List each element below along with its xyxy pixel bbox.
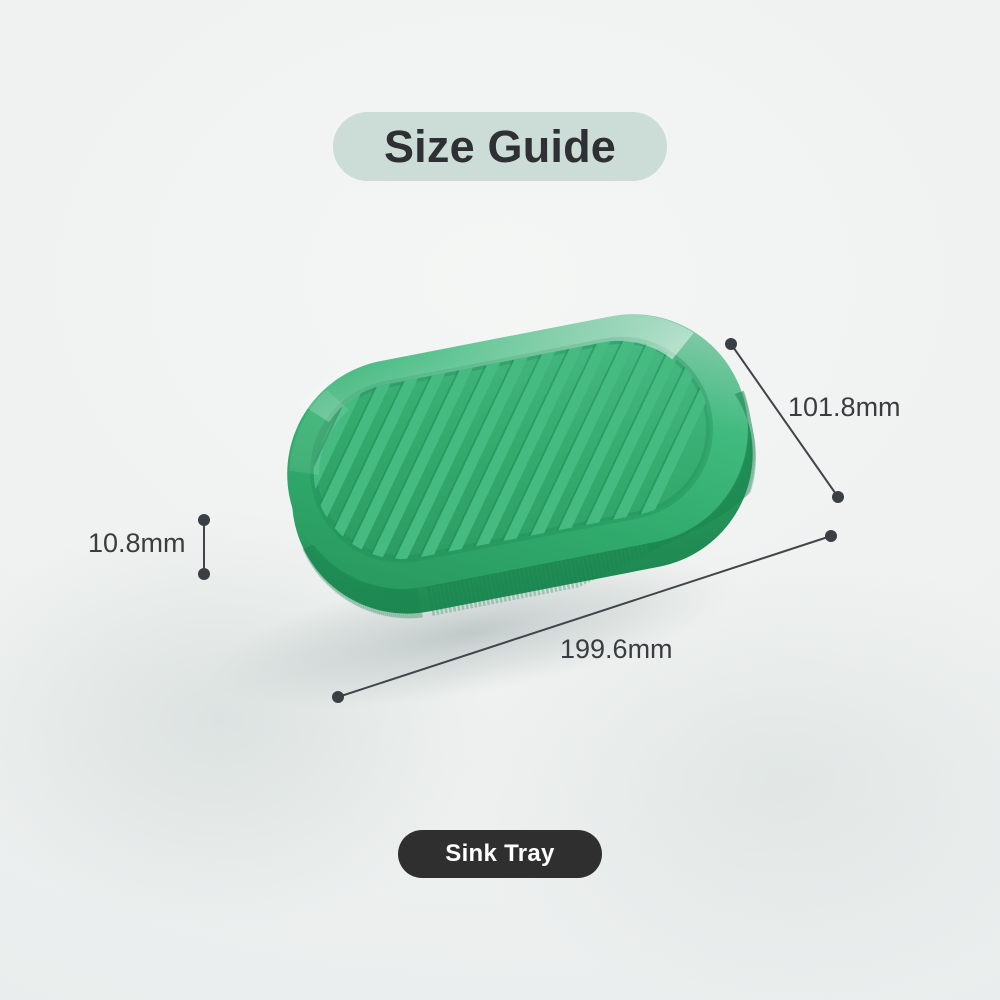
- dimension-line-height: [198, 514, 210, 580]
- product-name-text: Sink Tray: [445, 840, 554, 868]
- size-guide-title-badge: Size Guide: [333, 112, 667, 181]
- dimension-line-width: [332, 530, 837, 703]
- size-guide-title-text: Size Guide: [384, 121, 616, 173]
- product-name-badge: Sink Tray: [398, 830, 602, 878]
- dimension-label-depth: 101.8mm: [788, 392, 901, 423]
- dimension-label-width: 199.6mm: [560, 634, 673, 665]
- dimension-label-height: 10.8mm: [88, 528, 186, 559]
- size-guide-canvas: Size Guide 199.6mm 101.8mm 10.8mm Sink T…: [0, 0, 1000, 1000]
